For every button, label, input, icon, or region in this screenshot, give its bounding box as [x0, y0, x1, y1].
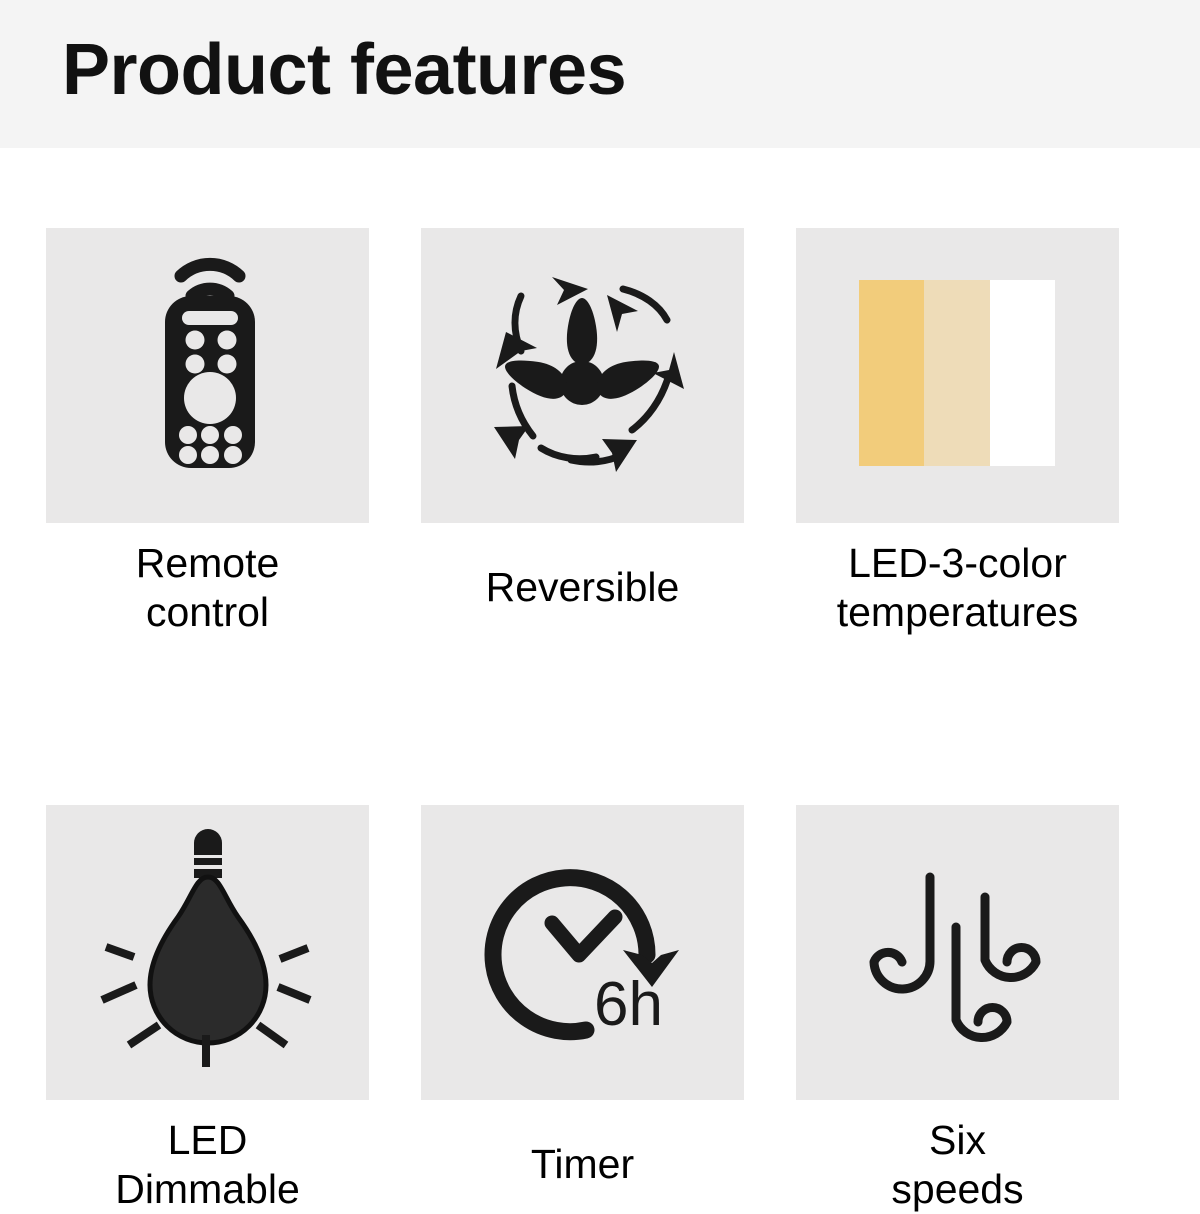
features-grid: Remote control: [46, 228, 1119, 1214]
feature-card-six-speeds: Six speeds: [796, 805, 1119, 1214]
feature-icon-tile: [46, 805, 369, 1100]
remote-control-icon: [46, 228, 369, 523]
feature-card-timer: 6h Timer: [421, 805, 744, 1214]
light-bulb-icon: [46, 805, 369, 1100]
feature-card-led-color-temperatures: LED-3-color temperatures: [796, 228, 1119, 637]
timer-clock-arrow-icon: 6h: [421, 805, 744, 1100]
swatch-natural-white: [924, 280, 989, 466]
feature-icon-tile: [796, 805, 1119, 1100]
airflow-curls-icon: [796, 805, 1119, 1100]
feature-icon-tile: [796, 228, 1119, 523]
feature-card-reversible: Reversible: [421, 228, 744, 637]
feature-label: LED-3-color temperatures: [796, 539, 1119, 637]
feature-card-remote-control: Remote control: [46, 228, 369, 637]
feature-card-led-dimmable: LED Dimmable: [46, 805, 369, 1214]
feature-label: Timer: [421, 1140, 744, 1189]
reversible-fan-icon: [421, 228, 744, 523]
feature-icon-tile: [421, 228, 744, 523]
swatch-cool-white: [990, 280, 1055, 466]
feature-label: Remote control: [46, 539, 369, 637]
feature-label: LED Dimmable: [46, 1116, 369, 1214]
product-features-infographic: Product features: [0, 0, 1200, 1200]
page-title: Product features: [62, 24, 626, 116]
timer-duration-text: 6h: [594, 970, 663, 1039]
feature-icon-tile: 6h: [421, 805, 744, 1100]
feature-label: Six speeds: [796, 1116, 1119, 1214]
feature-icon-tile: [46, 228, 369, 523]
header-band: Product features: [0, 0, 1200, 148]
color-temperature-swatch-icon: [859, 280, 1055, 466]
swatch-warm-white: [859, 280, 924, 466]
feature-label: Reversible: [421, 563, 744, 612]
